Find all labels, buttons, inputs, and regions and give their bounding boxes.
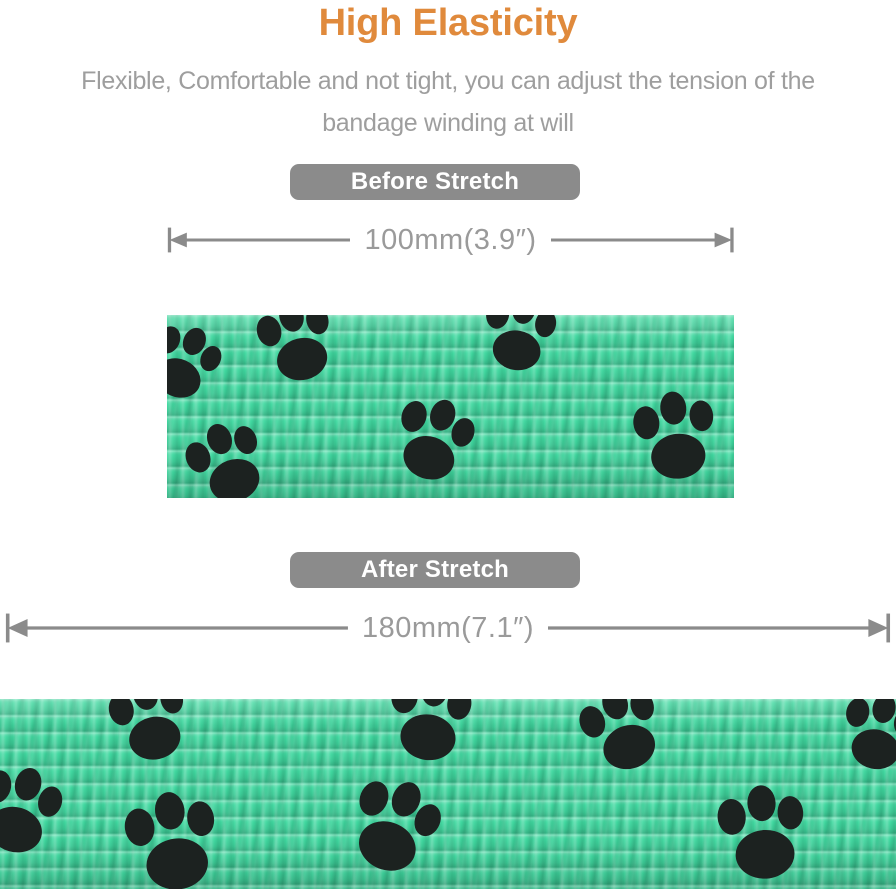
paw-print-icon <box>96 699 208 781</box>
dimension-label-after: 180mm(7.1″) <box>348 611 548 645</box>
dimension-arrow-left <box>167 218 350 262</box>
paw-print-icon <box>175 413 285 498</box>
paw-print-icon <box>108 781 242 889</box>
paw-print-icon <box>619 383 734 498</box>
dimension-arrow-right <box>551 218 734 262</box>
badge-after-stretch: After Stretch <box>290 552 580 588</box>
dimension-after-stretch: 180mm(7.1″) <box>5 606 891 650</box>
paw-print-icon <box>700 775 828 889</box>
dimension-arrow-left <box>5 606 348 650</box>
page-subtitle: Flexible, Comfortable and not tight, you… <box>68 60 828 144</box>
paw-print-icon <box>245 315 355 401</box>
paw-print-icon <box>377 389 489 498</box>
paw-print-icon <box>0 757 78 875</box>
page-title: High Elasticity <box>0 0 896 46</box>
dimension-label-before: 100mm(3.9″) <box>350 223 550 257</box>
dimension-before-stretch: 100mm(3.9″) <box>167 218 734 262</box>
paw-print-icon <box>568 699 682 791</box>
paw-print-icon <box>330 769 456 889</box>
badge-before-stretch: Before Stretch <box>290 164 580 200</box>
paw-print-icon <box>467 315 571 389</box>
dimension-arrow-right <box>548 606 891 650</box>
bandage-swatch-after-stretch <box>0 699 896 889</box>
paw-print-icon <box>167 317 233 417</box>
paw-print-icon <box>826 699 896 789</box>
bandage-swatch-before-stretch <box>167 315 734 498</box>
